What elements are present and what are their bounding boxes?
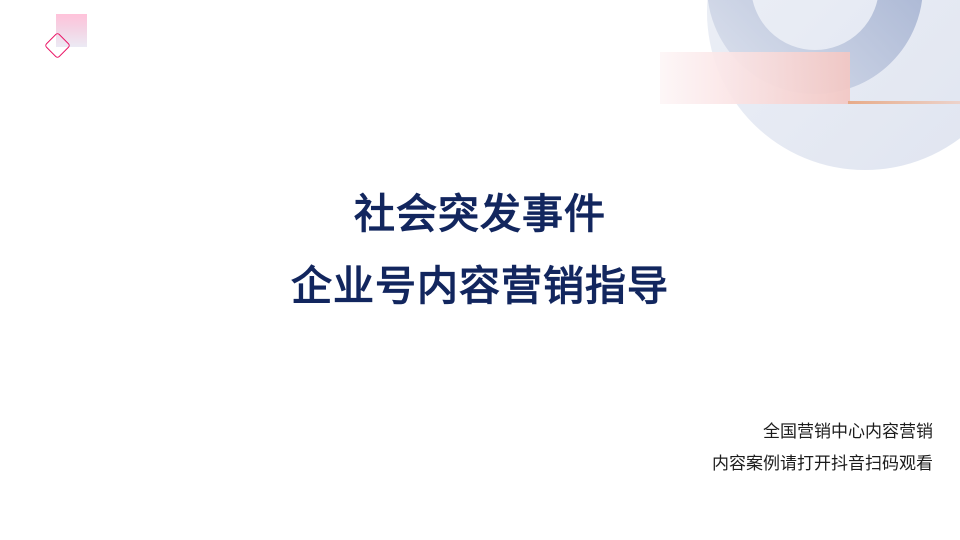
pink-diamond-outline-shape	[44, 32, 71, 59]
credit-line-1: 全国营销中心内容营销	[712, 416, 933, 448]
page-title: 社会突发事件 企业号内容营销指导	[0, 178, 960, 322]
title-line-1: 社会突发事件	[0, 178, 960, 250]
ring-shape	[729, 0, 901, 72]
pink-bar-shape	[660, 52, 850, 104]
top-left-decoration	[0, 0, 140, 90]
slide-canvas: 社会突发事件 企业号内容营销指导 全国营销中心内容营销 内容案例请打开抖音扫码观…	[0, 0, 960, 540]
thin-accent-line	[848, 101, 960, 104]
credit-line-2: 内容案例请打开抖音扫码观看	[712, 448, 933, 480]
title-line-2: 企业号内容营销指导	[0, 250, 960, 322]
credit-block: 全国营销中心内容营销 内容案例请打开抖音扫码观看	[712, 416, 933, 480]
pink-gradient-square-shape	[56, 14, 87, 47]
large-circle-shape	[707, 0, 960, 170]
